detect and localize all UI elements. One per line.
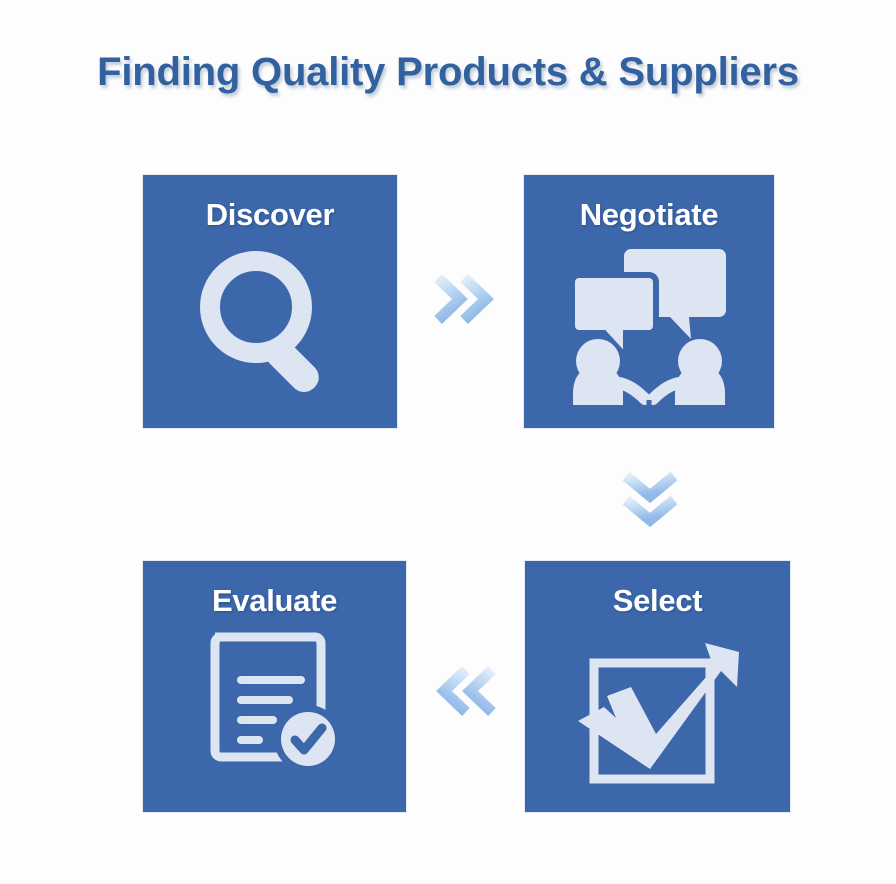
checkbox-arrow-icon bbox=[572, 629, 744, 789]
step-card-select[interactable]: Select bbox=[525, 561, 790, 812]
handshake-speech-bubbles-icon bbox=[565, 243, 733, 405]
step-label-negotiate: Negotiate bbox=[524, 197, 774, 233]
step-card-discover[interactable]: Discover bbox=[143, 175, 397, 428]
double-chevron-left-icon bbox=[436, 660, 498, 722]
step-label-evaluate: Evaluate bbox=[143, 583, 406, 619]
double-chevron-down-icon bbox=[618, 468, 682, 532]
document-check-icon bbox=[205, 629, 345, 777]
step-label-discover: Discover bbox=[143, 197, 397, 233]
magnifying-glass-icon bbox=[190, 243, 350, 403]
page-title: Finding Quality Products & Suppliers bbox=[0, 50, 896, 95]
double-chevron-right-icon bbox=[432, 268, 494, 330]
step-card-negotiate[interactable]: Negotiate bbox=[524, 175, 774, 428]
step-label-select: Select bbox=[525, 583, 790, 619]
step-card-evaluate[interactable]: Evaluate bbox=[143, 561, 406, 812]
diagram-canvas: Finding Quality Products & Suppliers Dis… bbox=[0, 0, 896, 884]
